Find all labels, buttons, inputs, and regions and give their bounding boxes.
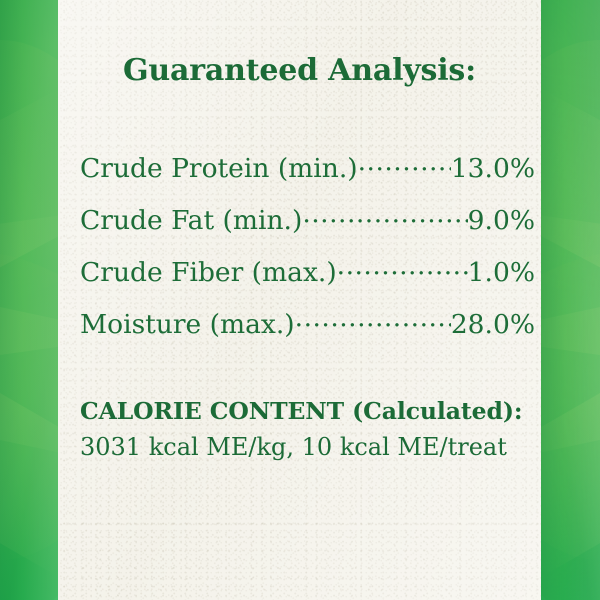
nutrient-value: 13.0%: [451, 153, 535, 184]
table-row: Crude Protein (min.) 13.0%: [80, 150, 535, 202]
nutrient-value: 1.0%: [468, 257, 535, 288]
page-title: Guaranteed Analysis:: [58, 53, 541, 88]
label-content: Guaranteed Analysis: Crude Protein (min.…: [58, 0, 541, 600]
calorie-content-heading: CALORIE CONTENT (Calculated):: [80, 400, 540, 424]
nutrient-value: 9.0%: [468, 205, 535, 236]
nutrient-label: Crude Fiber (max.): [80, 257, 337, 288]
dot-leader: [358, 150, 451, 177]
calorie-content-detail: 3031 kcal ME/kg, 10 kcal ME/treat: [80, 435, 540, 459]
table-row: Moisture (max.) 28.0%: [80, 306, 535, 358]
left-green-leaf-band: [0, 0, 58, 600]
left-band-shading: [0, 0, 58, 600]
right-green-leaf-band: [541, 0, 600, 600]
dot-leader: [295, 306, 451, 333]
dot-leader: [302, 202, 467, 229]
nutrient-label: Moisture (max.): [80, 309, 295, 340]
nutrient-label: Crude Fat (min.): [80, 205, 302, 236]
right-band-shading: [541, 0, 600, 600]
dot-leader: [337, 254, 468, 281]
nutrient-table: Crude Protein (min.) 13.0% Crude Fat (mi…: [80, 150, 535, 358]
nutrient-label: Crude Protein (min.): [80, 153, 358, 184]
calorie-content-block: CALORIE CONTENT (Calculated): 3031 kcal …: [80, 400, 540, 459]
table-row: Crude Fiber (max.) 1.0%: [80, 254, 535, 306]
guaranteed-analysis-panel: Guaranteed Analysis: Crude Protein (min.…: [0, 0, 600, 600]
table-row: Crude Fat (min.) 9.0%: [80, 202, 535, 254]
nutrient-value: 28.0%: [451, 309, 535, 340]
